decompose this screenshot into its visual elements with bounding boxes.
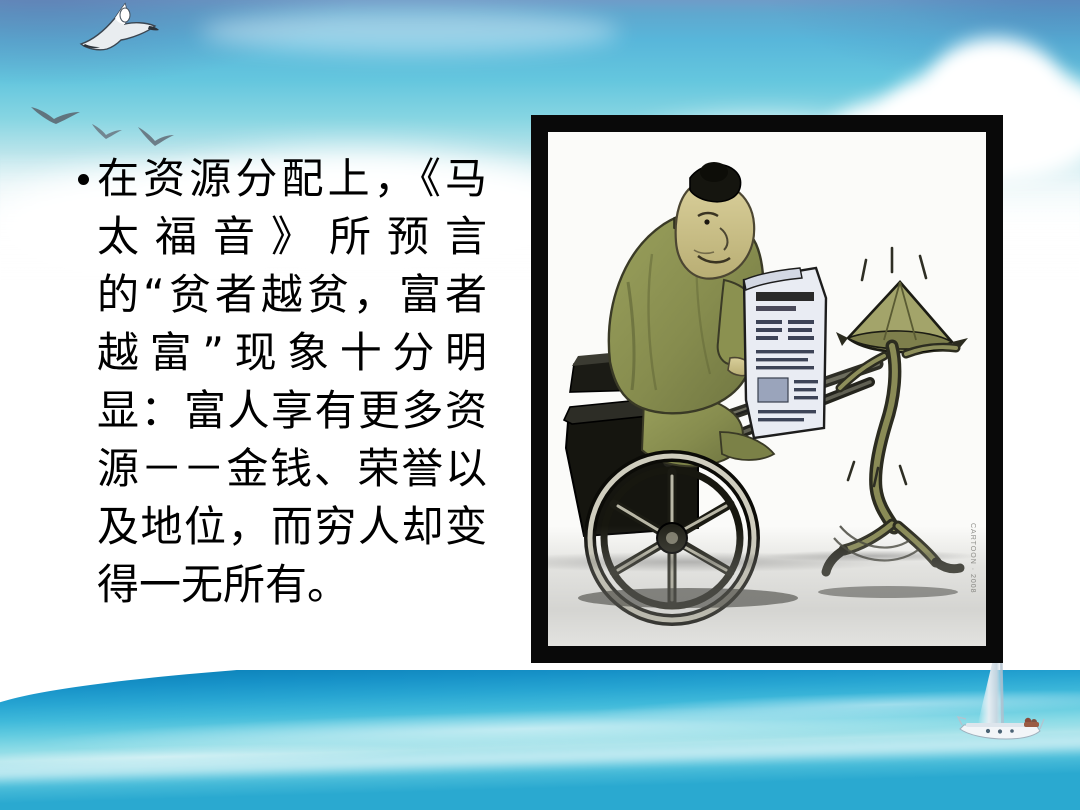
seagull-large-icon [75, 0, 165, 60]
presentation-slide: 在资源分配上，《马太福音》所预言的“贫者越贫，富者越富”现象十分明显：富人享有更… [0, 0, 1080, 810]
illustration-canvas: CARTOON · 2008 [548, 132, 986, 646]
seagull-small-2-icon [90, 120, 124, 142]
sailboat-icon [944, 655, 1054, 750]
cartoon-signature: CARTOON · 2008 [969, 523, 976, 594]
seagull-small-3-icon [136, 124, 176, 150]
wispy-cloud [200, 10, 620, 54]
newspaper [744, 268, 826, 438]
ocean [0, 670, 1080, 810]
bullet-dot-icon [78, 174, 89, 185]
text-body-block: 在资源分配上，《马太福音》所预言的“贫者越贫，富者越富”现象十分明显：富人享有更… [78, 150, 530, 614]
paragraph-text: 在资源分配上，《马太福音》所预言的“贫者越贫，富者越富”现象十分明显：富人享有更… [97, 150, 487, 614]
rickshaw-cartoon-drawing [548, 132, 986, 646]
bullet-paragraph: 在资源分配上，《马太福音》所预言的“贫者越贫，富者越富”现象十分明显：富人享有更… [78, 150, 530, 614]
seagull-small-1-icon [28, 98, 84, 130]
illustration-frame[interactable]: CARTOON · 2008 [531, 115, 1003, 663]
